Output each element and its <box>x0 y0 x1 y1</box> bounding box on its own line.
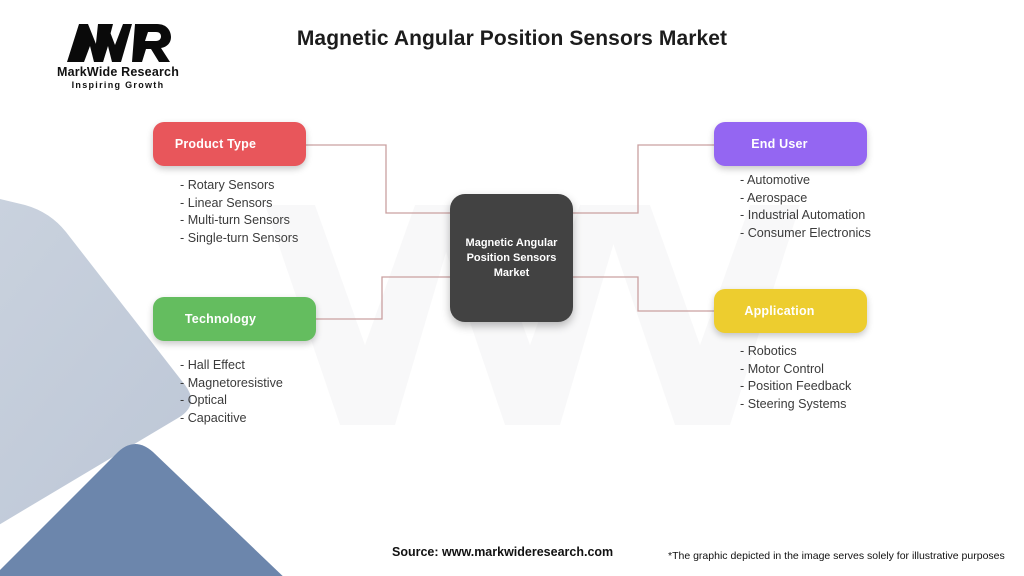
branch-label-product-type: Product Type <box>153 137 306 151</box>
branch-label-technology: Technology <box>153 312 316 326</box>
list-item: - Magnetoresistive <box>180 375 283 393</box>
branch-node-technology[interactable]: Technology <box>153 297 316 341</box>
branch-items-product-type: - Rotary Sensors - Linear Sensors - Mult… <box>180 177 298 247</box>
list-item: - Robotics <box>740 343 851 361</box>
branch-label-end-user: End User <box>714 137 867 151</box>
center-node: Magnetic Angular Position Sensors Market <box>450 194 573 322</box>
disclaimer-note: *The graphic depicted in the image serve… <box>668 550 1005 562</box>
list-item: - Industrial Automation <box>740 207 871 225</box>
list-item: - Hall Effect <box>180 357 283 375</box>
diagram-canvas: MarkWide Research Inspiring Growth Magne… <box>0 0 1024 576</box>
list-item: - Motor Control <box>740 361 851 379</box>
connector-application <box>571 277 714 311</box>
list-item: - Multi-turn Sensors <box>180 212 298 230</box>
branch-node-product-type[interactable]: Product Type <box>153 122 306 166</box>
branch-label-application: Application <box>714 304 867 318</box>
branch-items-end-user: - Automotive - Aerospace - Industrial Au… <box>740 172 871 242</box>
branch-items-technology: - Hall Effect - Magnetoresistive - Optic… <box>180 357 283 427</box>
branch-node-application[interactable]: Application <box>714 289 867 333</box>
list-item: - Position Feedback <box>740 378 851 396</box>
list-item: - Single-turn Sensors <box>180 230 298 248</box>
list-item: - Steering Systems <box>740 396 851 414</box>
list-item: - Rotary Sensors <box>180 177 298 195</box>
list-item: - Aerospace <box>740 190 871 208</box>
list-item: - Optical <box>180 392 283 410</box>
connector-technology <box>316 277 452 319</box>
branch-items-application: - Robotics - Motor Control - Position Fe… <box>740 343 851 413</box>
list-item: - Automotive <box>740 172 871 190</box>
list-item: - Consumer Electronics <box>740 225 871 243</box>
branch-node-end-user[interactable]: End User <box>714 122 867 166</box>
source-label: Source: www.markwideresearch.com <box>392 545 613 559</box>
connector-end-user <box>571 145 714 213</box>
list-item: - Capacitive <box>180 410 283 428</box>
center-node-label: Magnetic Angular Position Sensors Market <box>450 236 573 281</box>
list-item: - Linear Sensors <box>180 195 298 213</box>
connector-product-type <box>306 145 452 213</box>
